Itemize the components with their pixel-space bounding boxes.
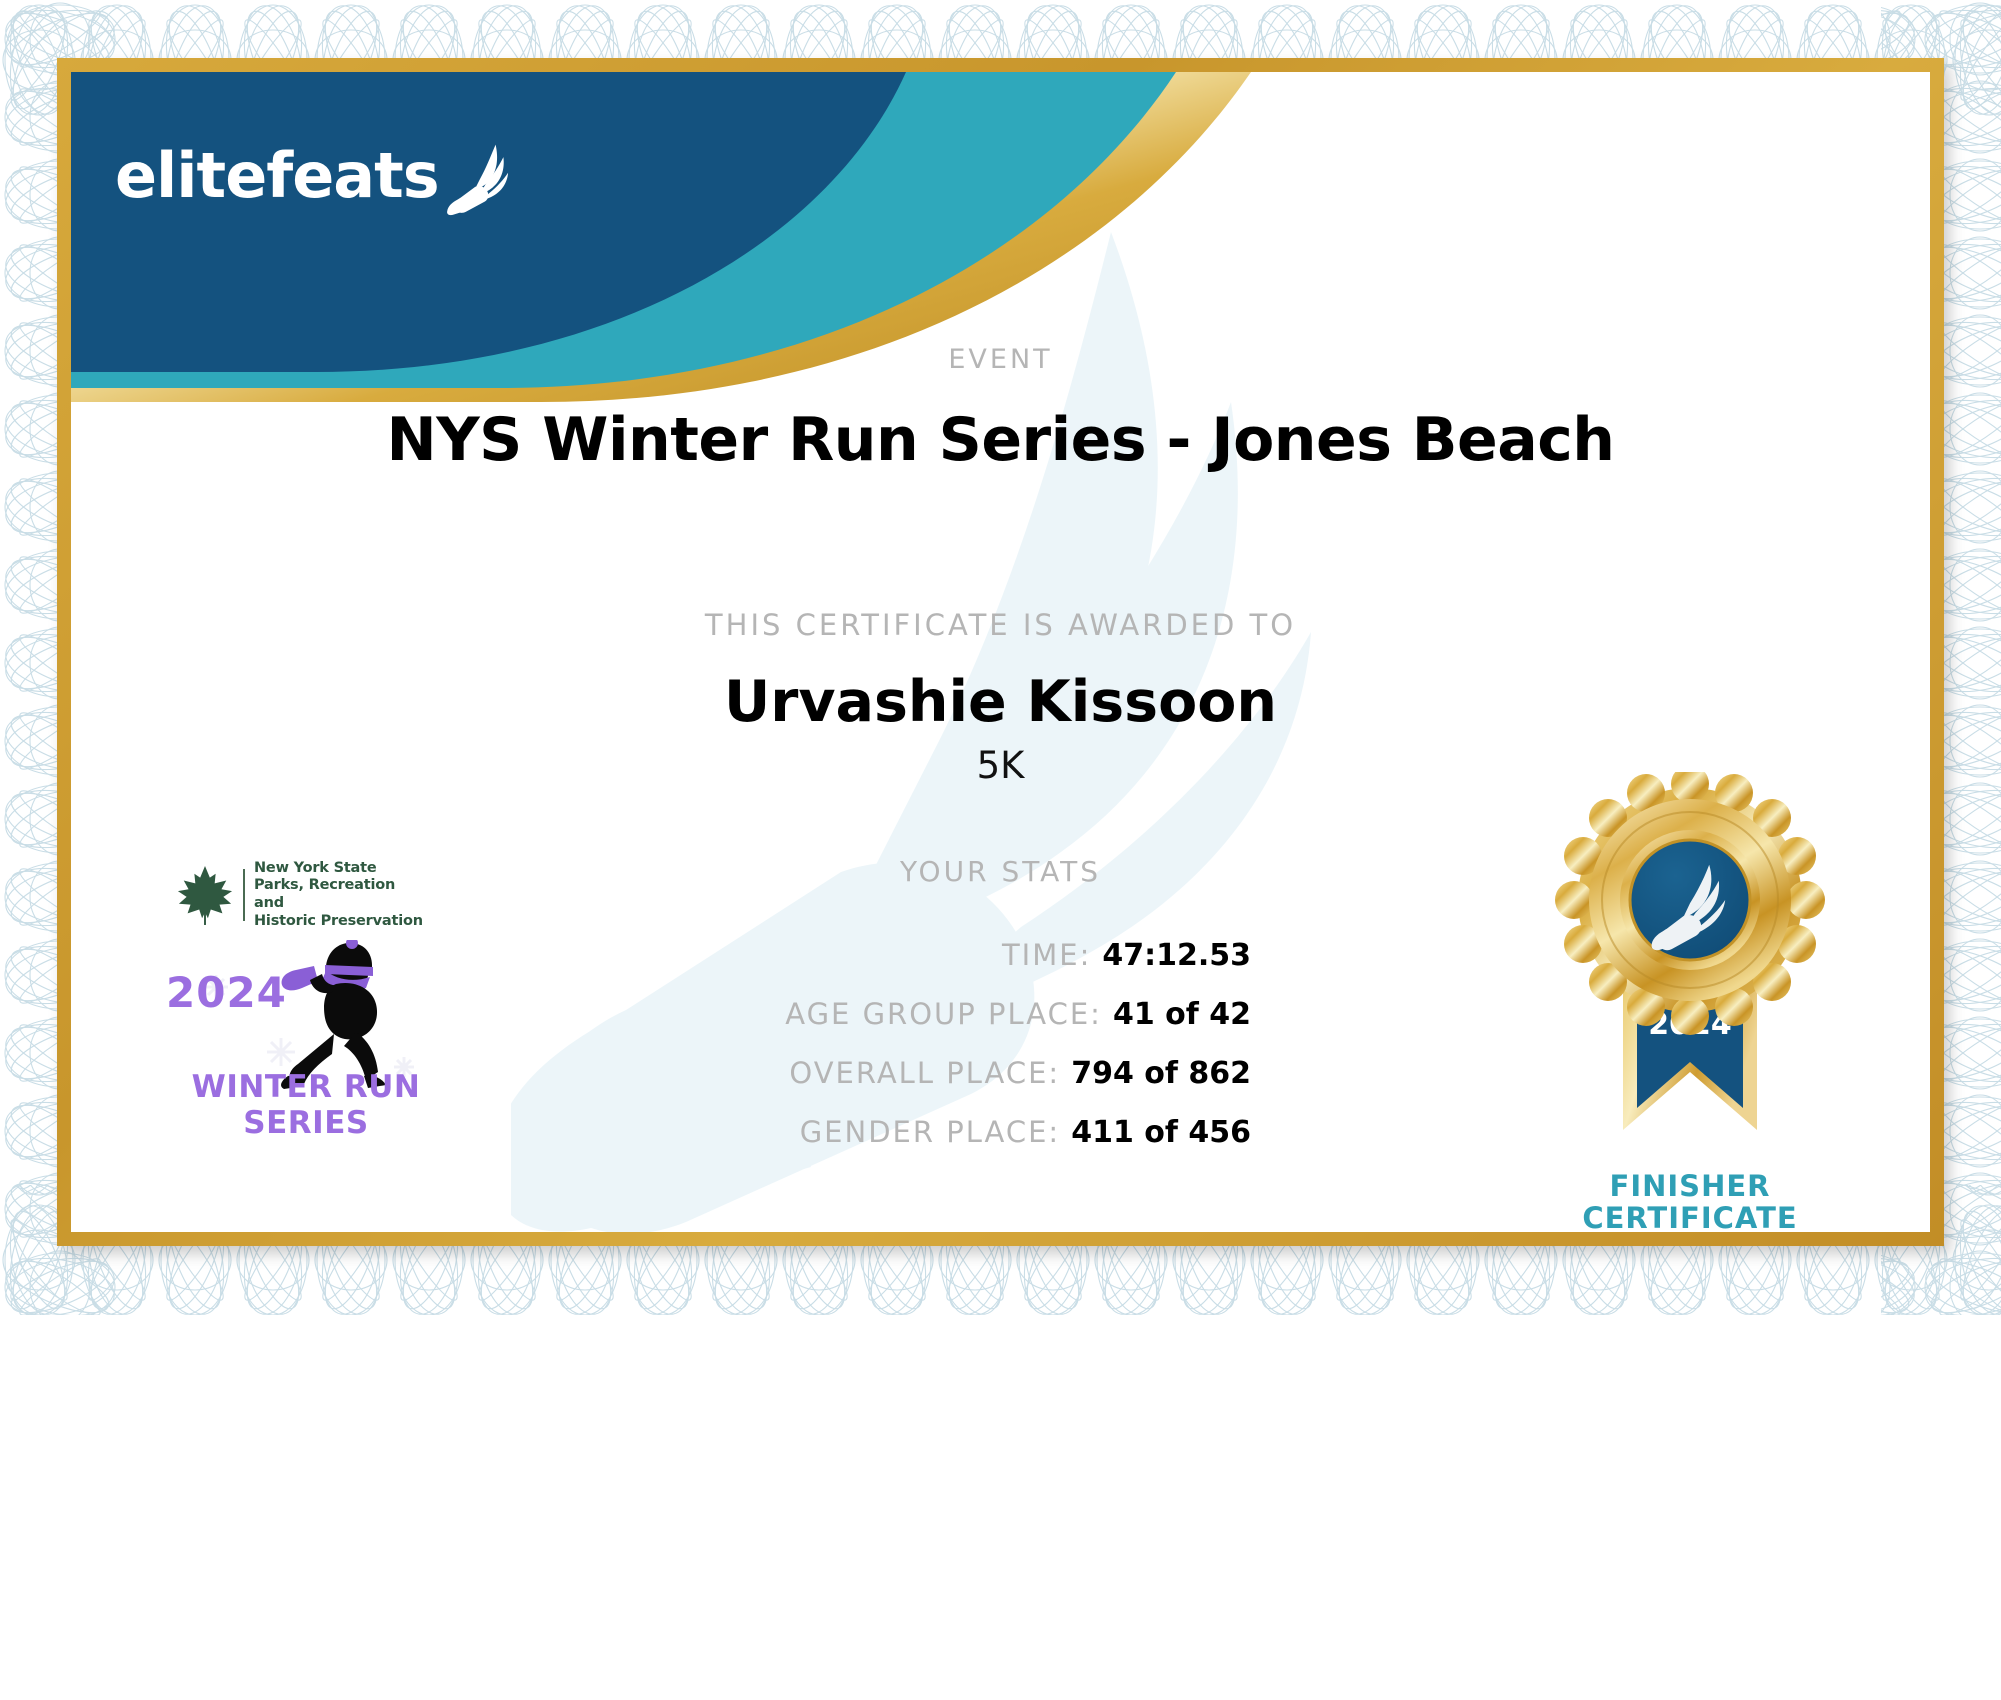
medal-caption-line-2: CERTIFICATE <box>1545 1202 1835 1232</box>
running-person-icon <box>244 940 404 1090</box>
event-title: NYS Winter Run Series - Jones Beach <box>71 405 1930 475</box>
maple-leaf-icon <box>176 864 234 926</box>
certificate-inner-surface: elitefeats <box>71 72 1930 1232</box>
nys-parks-text: New York State Parks, Recreation and His… <box>254 860 426 931</box>
stats-list: TIME: 47:12.53 AGE GROUP PLACE: 41 of 42… <box>371 938 1251 1174</box>
stat-row-time: TIME: 47:12.53 <box>371 938 1251 997</box>
certificate-page: elitefeats <box>0 0 2001 1700</box>
stat-key: AGE GROUP PLACE: <box>785 997 1102 1031</box>
sponsor-line-2: Parks, Recreation and <box>254 877 426 912</box>
sponsor-line-1: New York State <box>254 860 426 878</box>
sponsor-line-3: Historic Preservation <box>254 913 426 931</box>
stat-key: TIME: <box>1002 938 1091 972</box>
awarded-to-label: THIS CERTIFICATE IS AWARDED TO <box>71 608 1930 642</box>
stat-row-overall-place: OVERALL PLACE: 794 of 862 <box>371 1056 1251 1115</box>
medal-caption: FINISHER CERTIFICATE <box>1545 1170 1835 1232</box>
medal-graphic: 2024 <box>1545 772 1835 1172</box>
stat-key: GENDER PLACE: <box>800 1115 1061 1149</box>
winter-run-series-logo: 2024 <box>156 932 456 1147</box>
logo-divider <box>243 869 245 921</box>
stat-value: 411 of 456 <box>1071 1115 1251 1150</box>
stat-value: 41 of 42 <box>1113 997 1251 1032</box>
finisher-medal: 2024 <box>1545 772 1835 1232</box>
stat-value: 794 of 862 <box>1071 1056 1251 1091</box>
medal-caption-line-1: FINISHER <box>1545 1170 1835 1202</box>
stat-value: 47:12.53 <box>1102 938 1251 973</box>
certificate-content: EVENT NYS Winter Run Series - Jones Beac… <box>71 72 1930 1232</box>
stat-row-gender-place: GENDER PLACE: 411 of 456 <box>371 1115 1251 1174</box>
series-title: Winter Run Series <box>156 1069 456 1141</box>
recipient-name: Urvashie Kissoon <box>71 669 1930 735</box>
stat-row-age-group-place: AGE GROUP PLACE: 41 of 42 <box>371 997 1251 1056</box>
event-label: EVENT <box>71 344 1930 375</box>
nys-parks-logo: New York State Parks, Recreation and His… <box>176 859 426 931</box>
stat-key: OVERALL PLACE: <box>789 1056 1060 1090</box>
gold-frame-border: elitefeats <box>57 58 1944 1246</box>
